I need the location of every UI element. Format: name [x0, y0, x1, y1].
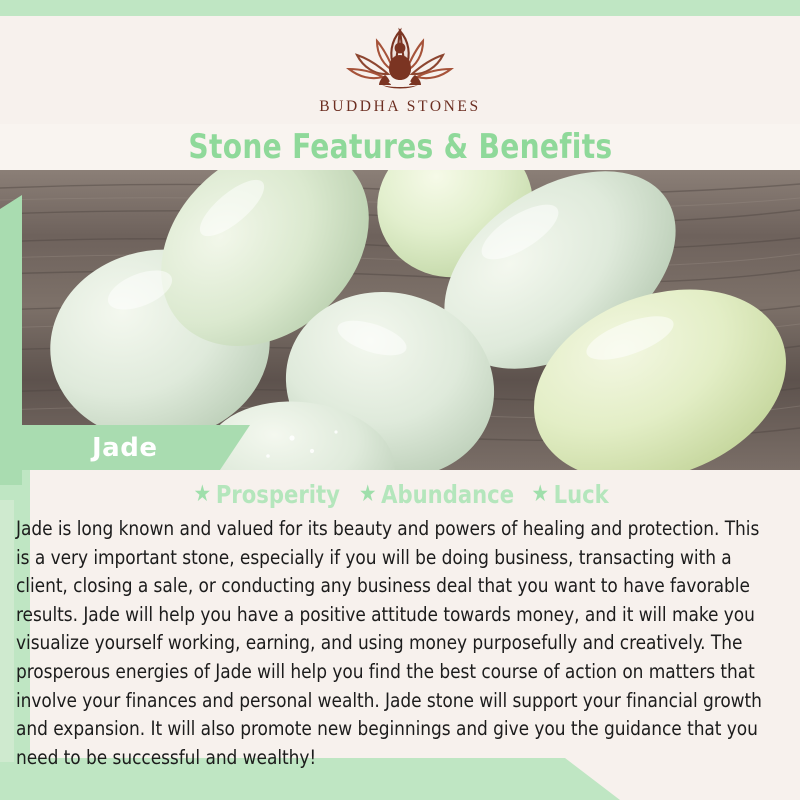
content-area: ★ Prosperity ★ Abundance ★ Luck Jade is … [14, 470, 800, 770]
section-title-bar: Stone Features & Benefits [0, 124, 800, 170]
keyword-list: ★ Prosperity ★ Abundance ★ Luck [14, 470, 800, 509]
star-icon: ★ [193, 483, 210, 506]
keyword-item-prosperity: ★ Prosperity [193, 480, 339, 509]
body-left-accent-stripe [0, 500, 14, 762]
poster-root: BUDDHA STONES Stone Features & Benefits … [0, 0, 800, 800]
stone-name-banner: Jade [0, 425, 250, 470]
lotus-meditation-icon [341, 25, 459, 97]
keyword-label: Abundance [381, 480, 514, 509]
brand-name: BUDDHA STONES [319, 98, 480, 116]
keyword-item-luck: ★ Luck [532, 480, 609, 509]
page-title: Stone Features & Benefits [188, 127, 612, 167]
brand-header: BUDDHA STONES [0, 16, 800, 124]
stone-name-label: Jade [92, 433, 157, 463]
star-icon: ★ [532, 483, 549, 506]
keyword-label: Prosperity [215, 480, 339, 509]
star-icon: ★ [359, 483, 376, 506]
keyword-item-abundance: ★ Abundance [359, 480, 514, 509]
top-accent-band [0, 0, 800, 16]
keyword-label: Luck [554, 480, 609, 509]
stone-description: Jade is long known and valued for its be… [16, 515, 773, 772]
